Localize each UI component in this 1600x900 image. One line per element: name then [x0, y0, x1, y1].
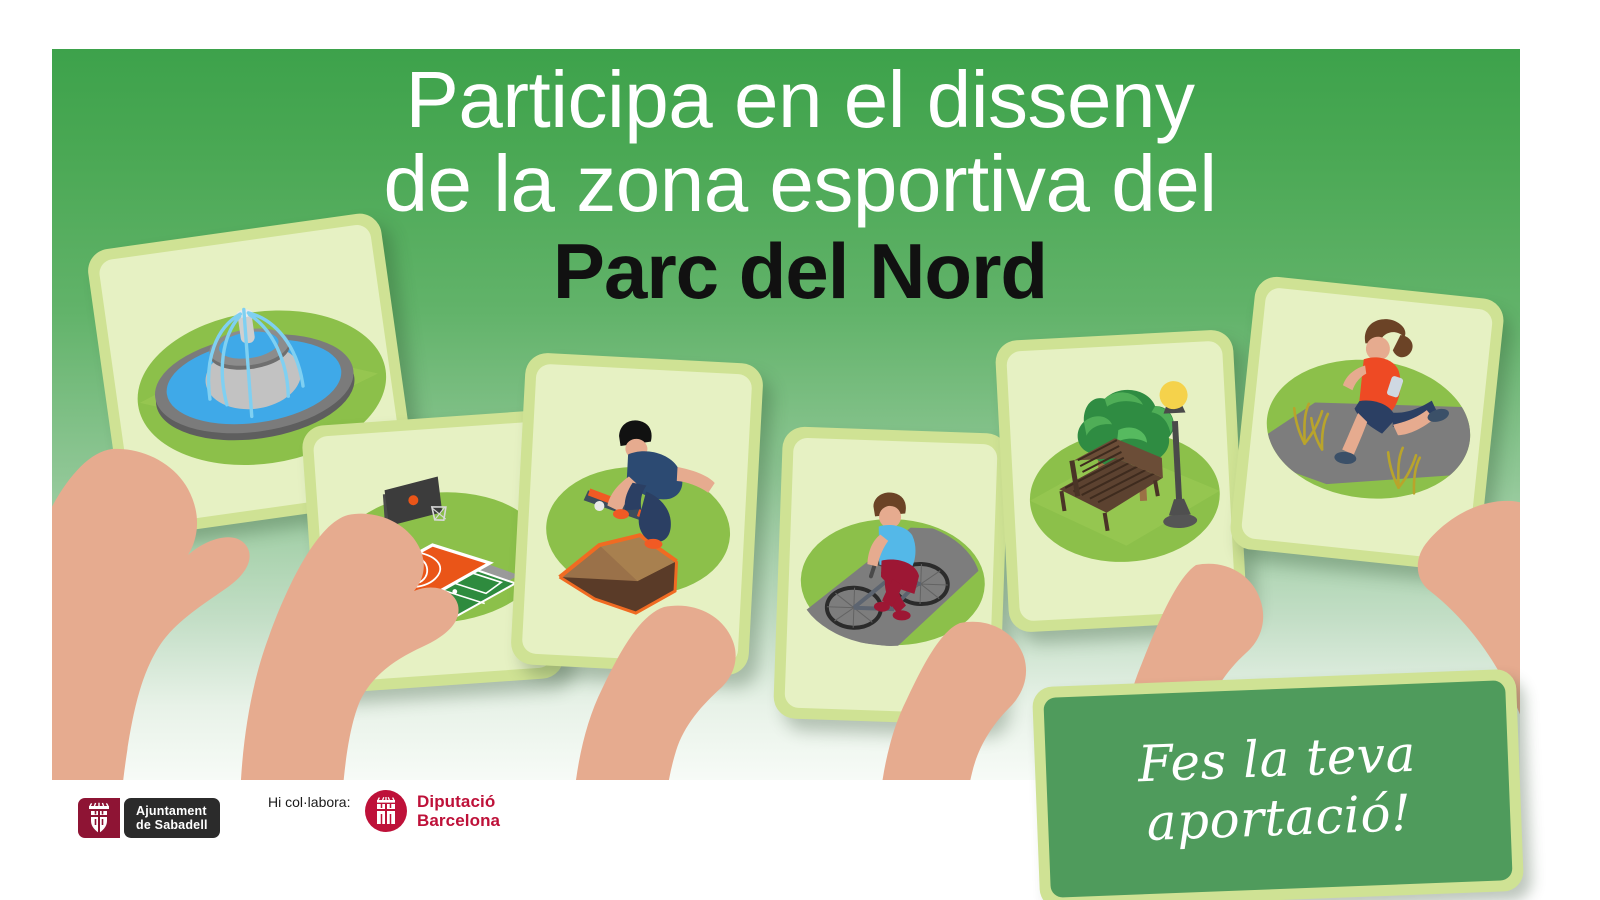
logo-ajuntament-de-sabadell[interactable]: Ajuntament de Sabadell [78, 798, 220, 838]
logo-diputacio-barcelona[interactable]: Diputació Barcelona [365, 790, 500, 832]
diputacio-line-1: Diputació [417, 792, 500, 811]
ajuntament-line-2: de Sabadell [136, 818, 208, 832]
diputacio-label: Diputació Barcelona [417, 792, 500, 831]
hand-pointing-skate [552, 589, 812, 780]
poster-background-panel [52, 49, 1520, 780]
sabadell-coat-of-arms-icon [78, 798, 120, 838]
diputacio-line-2: Barcelona [417, 811, 500, 830]
ajuntament-line-1: Ajuntament [136, 804, 208, 818]
footer-logos: Ajuntament de Sabadell Hi col·labora: Di… [0, 780, 1600, 900]
collaborate-label: Hi col·labora: [268, 794, 350, 810]
poster-root: Participa en el disseny de la zona espor… [0, 0, 1600, 900]
diputacio-barcelona-emblem-icon [365, 790, 407, 832]
ajuntament-label: Ajuntament de Sabadell [124, 798, 220, 838]
hand-pointing-court [230, 479, 530, 780]
